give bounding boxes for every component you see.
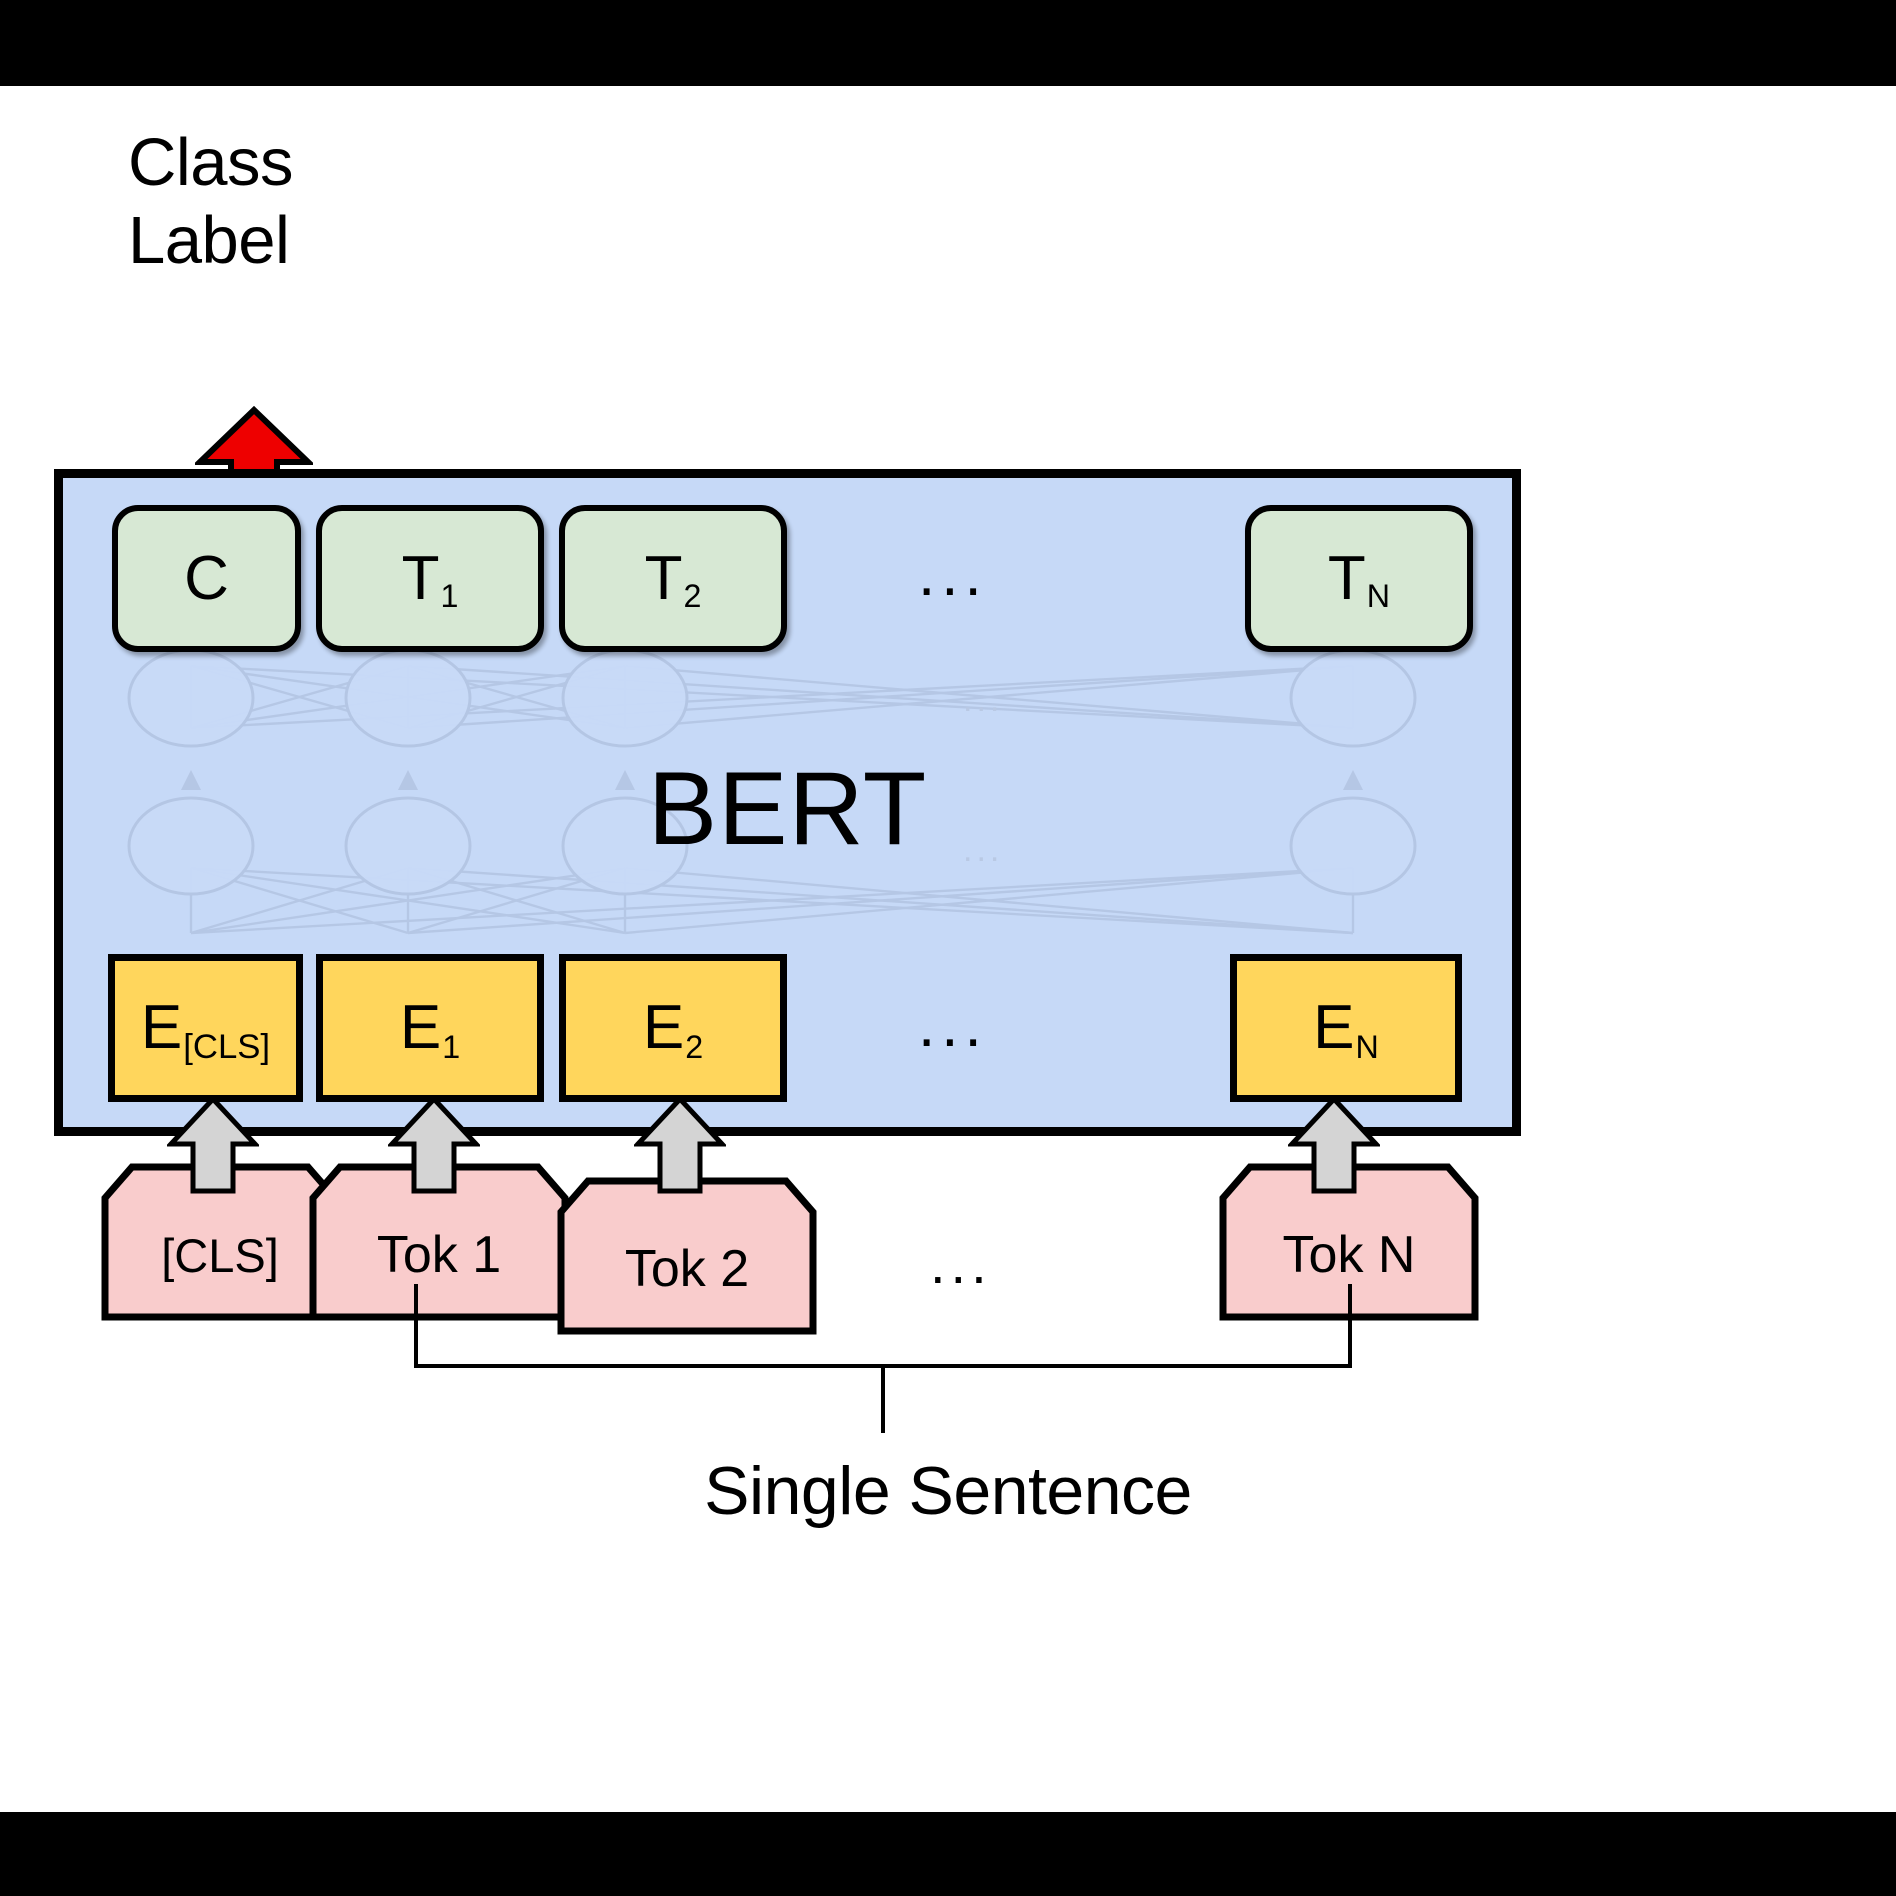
output-cell-t2[interactable]: T2 [559,505,787,652]
embedding-cell-label: E2 [643,997,703,1059]
input-arrow-tok1-icon [388,1096,480,1194]
input-arrow-cls-icon [167,1096,259,1194]
input-arrow-tok2-icon [634,1096,726,1194]
embedding-cell-label: E1 [400,997,460,1059]
letterbox-bottom [0,1812,1896,1896]
sentence-bracket [380,1236,1450,1436]
output-row-ellipsis: ... [918,544,988,606]
class-label-text: Class Label [128,124,448,279]
token-row-ellipsis: ... [930,1236,992,1292]
embedding-cell-label: EN [1313,997,1379,1059]
output-cell-label: C [184,548,229,610]
figure-canvas: Class Label [0,0,1896,1896]
bert-model-label: BERT [63,750,1512,869]
embedding-cell-e2[interactable]: E2 [559,954,787,1102]
embedding-cell-label: E[CLS] [141,997,270,1059]
bert-model-box: C T1 T2 TN ... ... ... BERT E[CLS] E1 [54,469,1521,1136]
letterbox-top [0,0,1896,86]
sentence-label: Single Sentence [0,1452,1896,1530]
network-ellipsis-upper: ... [963,683,1003,717]
embedding-row-ellipsis: ... [918,995,988,1057]
input-arrow-tokn-icon [1288,1096,1380,1194]
embedding-cell-en[interactable]: EN [1230,954,1462,1102]
output-cell-cls[interactable]: C [112,505,301,652]
output-cell-label: TN [1328,548,1390,610]
diagram-area: Class Label [0,86,1896,1812]
output-cell-label: T1 [402,548,459,610]
output-cell-label: T2 [645,548,702,610]
output-cell-t1[interactable]: T1 [316,505,544,652]
output-cell-tn[interactable]: TN [1245,505,1473,652]
embedding-cell-e1[interactable]: E1 [316,954,544,1102]
embedding-cell-cls[interactable]: E[CLS] [108,954,303,1102]
